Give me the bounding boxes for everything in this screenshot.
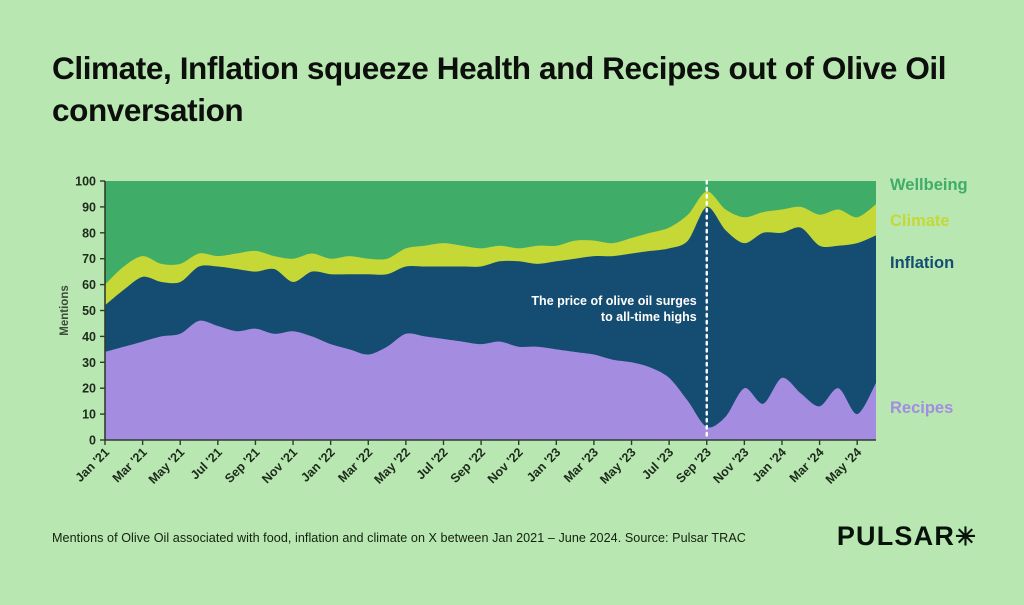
y-axis-ticks: 0102030405060708090100: [75, 175, 105, 448]
y-tick-label: 40: [82, 330, 96, 344]
x-tick-label: Sep '23: [673, 445, 714, 486]
y-tick-label: 0: [89, 434, 96, 448]
x-tick-label: Mar '23: [561, 445, 601, 485]
footer-caption: Mentions of Olive Oil associated with fo…: [52, 531, 746, 545]
x-axis-ticks: Jan '21Mar '21May '21Jul '21Sep '21Nov '…: [73, 440, 865, 487]
chart-container: 0102030405060708090100MentionsJan '21Mar…: [0, 0, 1024, 505]
x-tick-label: Sep '22: [448, 445, 489, 486]
stacked-area-chart: 0102030405060708090100MentionsJan '21Mar…: [0, 0, 1024, 505]
brand-name: PULSAR: [837, 521, 955, 551]
legend-item-inflation[interactable]: Inflation: [890, 254, 954, 272]
annotation-line-1: The price of olive oil surges: [531, 294, 696, 308]
x-tick-label: Jul '21: [188, 445, 225, 482]
x-tick-label: Nov '21: [259, 445, 300, 486]
annotation-line-2: to all-time highs: [601, 310, 697, 324]
x-tick-label: Jan '23: [524, 445, 564, 485]
legend-item-wellbeing[interactable]: Wellbeing: [890, 176, 968, 194]
x-tick-label: May '23: [597, 445, 639, 487]
y-tick-label: 90: [82, 200, 96, 214]
y-axis-title: Mentions: [59, 285, 71, 335]
pulsar-logo: PULSAR✳: [837, 521, 976, 552]
x-tick-label: May '24: [823, 445, 865, 487]
y-tick-label: 60: [82, 278, 96, 292]
y-tick-label: 50: [82, 304, 96, 318]
asterisk-icon: ✳: [955, 523, 976, 551]
x-tick-label: Jan '24: [750, 445, 790, 485]
x-tick-label: Sep '21: [222, 445, 263, 486]
x-tick-label: Nov '23: [710, 445, 751, 486]
legend-item-recipes[interactable]: Recipes: [890, 399, 953, 417]
x-tick-label: Nov '22: [485, 445, 526, 486]
x-tick-label: Mar '21: [110, 445, 150, 485]
x-tick-label: May '21: [146, 445, 188, 487]
y-tick-label: 10: [82, 408, 96, 422]
x-tick-label: Jan '22: [298, 445, 338, 485]
y-tick-label: 30: [82, 356, 96, 370]
x-tick-label: Mar '22: [335, 445, 375, 485]
x-tick-label: Jan '21: [73, 445, 113, 485]
plot-area: 0102030405060708090100MentionsJan '21Mar…: [59, 175, 876, 487]
x-tick-label: Jul '22: [414, 445, 451, 482]
x-tick-label: May '22: [372, 445, 414, 487]
y-tick-label: 100: [75, 175, 96, 189]
y-tick-label: 70: [82, 252, 96, 266]
y-tick-label: 20: [82, 382, 96, 396]
infographic-page: Climate, Inflation squeeze Health and Re…: [0, 0, 1024, 605]
legend-item-climate[interactable]: Climate: [890, 212, 950, 230]
x-tick-label: Jul '23: [639, 445, 676, 482]
area-bands: [105, 181, 876, 440]
y-tick-label: 80: [82, 226, 96, 240]
x-tick-label: Mar '24: [787, 445, 827, 485]
